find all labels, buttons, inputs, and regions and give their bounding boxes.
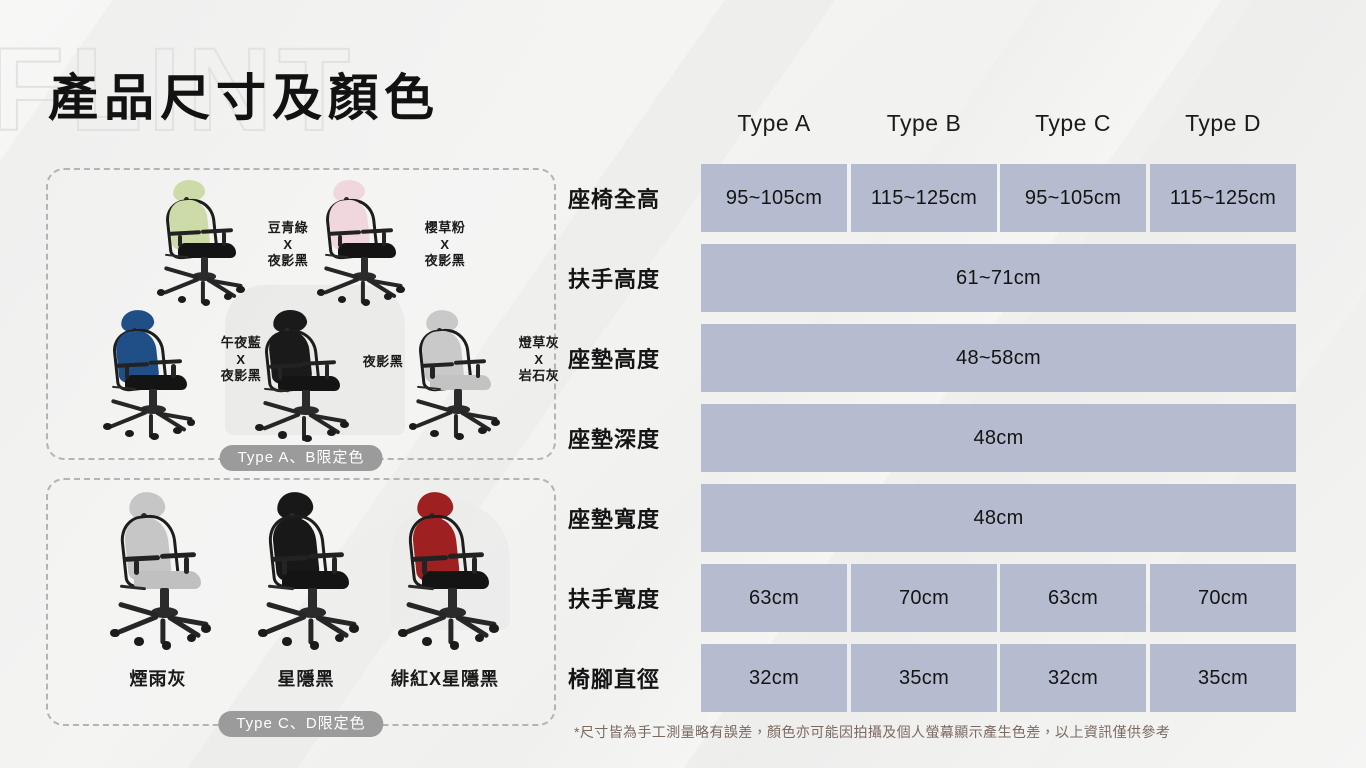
chair-castor-2 <box>125 430 134 437</box>
chair-armrest-post-right <box>382 232 386 246</box>
chair-castor-3 <box>455 433 464 440</box>
chair-castor-5 <box>187 419 196 426</box>
chair-armrest-post-left <box>422 560 427 575</box>
disclaimer-footnote: *尺寸皆為手工測量略有誤差，顏色亦可能因拍攝及個人螢幕顯示產生色差，以上資訊僅供… <box>574 722 1304 742</box>
chair-castor-5 <box>340 421 349 428</box>
chair-castor-4 <box>327 429 336 436</box>
chair-castor-3 <box>310 641 320 650</box>
chair-castor-4 <box>335 634 345 643</box>
spec-row: 座墊寬度48cm <box>568 478 1308 557</box>
panel-badge-ab: Type A、B限定色 <box>220 445 383 471</box>
spec-cell: 32cm <box>701 644 847 712</box>
spec-row: 座墊深度48cm <box>568 398 1308 477</box>
chair-castor-3 <box>150 433 159 440</box>
chair-castor-2 <box>178 296 186 303</box>
chair-castor-1 <box>398 629 408 638</box>
chair-castor-3 <box>450 641 460 650</box>
spec-row-cells: 61~71cm <box>701 244 1296 312</box>
spec-row-label: 扶手寬度 <box>568 558 694 637</box>
chair-armrest-post-right <box>325 364 329 378</box>
chair-base-leg-1 <box>110 410 148 428</box>
chair-castor-1 <box>255 424 264 431</box>
spec-row: 座墊高度48~58cm <box>568 318 1308 397</box>
spec-table: Type AType BType CType D 座椅全高95~105cm115… <box>568 110 1308 718</box>
spec-cell: 32cm <box>1000 644 1146 712</box>
chair-base-leg-1 <box>265 614 307 635</box>
chair-castor-2 <box>422 637 432 646</box>
color-panel-ab: 豆青綠 X 夜影黑櫻草粉 X 夜影黑午夜藍 X 夜影黑夜影黑燈草灰 X 岩石灰 … <box>46 168 556 460</box>
spec-row-cells: 48~58cm <box>701 324 1296 392</box>
chair-color-label: 緋紅X星隱黑 <box>370 668 520 691</box>
column-header-type-c: Type C <box>1000 110 1146 137</box>
chair-armrest-right <box>308 552 344 559</box>
chair-armrest-post-left <box>282 560 287 575</box>
chair-color-label: 櫻草粉 X 夜影黑 <box>400 220 490 270</box>
spec-cell: 35cm <box>1150 644 1296 712</box>
chair-castor-5 <box>396 286 404 293</box>
chair-armrest-post-right <box>222 232 226 246</box>
chair-castor-4 <box>384 293 392 300</box>
chair-castor-1 <box>258 629 268 638</box>
chair-armrest-right <box>201 228 233 234</box>
chair-illustration <box>386 492 506 652</box>
spec-cell-merged: 48~58cm <box>701 324 1296 392</box>
chair-castor-1 <box>409 423 418 430</box>
spec-cell: 70cm <box>851 564 997 632</box>
chair-castor-3 <box>303 435 312 442</box>
column-header-type-b: Type B <box>851 110 997 137</box>
chair-castor-5 <box>491 419 500 426</box>
spec-row-cells: 95~105cm115~125cm95~105cm115~125cm <box>701 164 1296 232</box>
chair-castor-2 <box>282 637 292 646</box>
spec-cell: 95~105cm <box>701 164 847 232</box>
chair-base-leg-1 <box>163 277 199 295</box>
chair-castor-2 <box>278 431 287 438</box>
spec-row-cells: 48cm <box>701 484 1296 552</box>
chair-armrest-right <box>361 228 393 234</box>
spec-row-label: 椅腳直徑 <box>568 638 694 717</box>
spec-cell: 70cm <box>1150 564 1296 632</box>
chair-illustration <box>92 310 202 442</box>
chair-castor-1 <box>317 289 325 296</box>
chair-castor-1 <box>103 423 112 430</box>
spec-cell: 63cm <box>1000 564 1146 632</box>
chair-armrest-post-left <box>278 367 282 380</box>
chair-castor-2 <box>338 296 346 303</box>
slide-canvas: FLINT 產品尺寸及顏色 豆青綠 X 夜影黑櫻草粉 X 夜影黑午夜藍 X 夜影… <box>0 0 1366 768</box>
chair-armrest-post-right <box>472 557 477 574</box>
column-header-type-d: Type D <box>1150 110 1296 137</box>
column-header-type-a: Type A <box>701 110 847 137</box>
spec-row-cells: 63cm70cm63cm70cm <box>701 564 1296 632</box>
chair-armrest-post-left <box>338 235 342 247</box>
spec-row: 扶手寬度63cm70cm63cm70cm <box>568 558 1308 637</box>
chair-armrest-post-left <box>125 366 129 378</box>
chair-armrest-post-right <box>476 364 480 378</box>
chair-base-leg-1 <box>262 412 301 431</box>
chair-castor-4 <box>478 427 487 434</box>
chair-armrest-right <box>302 360 336 366</box>
chair-base-leg-1 <box>405 614 447 635</box>
chair-armrest-right <box>448 552 484 559</box>
chair-illustration <box>306 180 411 308</box>
chair-castor-4 <box>475 634 485 643</box>
chair-armrest-post-right <box>184 557 189 574</box>
chair-castor-3 <box>162 641 172 650</box>
spec-cell: 115~125cm <box>851 164 997 232</box>
chair-armrest-post-left <box>178 235 182 247</box>
spec-cell: 95~105cm <box>1000 164 1146 232</box>
spec-row-cells: 32cm35cm32cm35cm <box>701 644 1296 712</box>
chair-armrest-right <box>160 552 196 559</box>
chair-base-leg-1 <box>415 410 453 428</box>
chair-castor-5 <box>201 624 211 633</box>
spec-cell: 63cm <box>701 564 847 632</box>
spec-row-label: 座椅全高 <box>568 158 694 237</box>
chair-seat <box>278 376 341 391</box>
chair-castor-5 <box>349 624 359 633</box>
chair-illustration <box>244 310 356 444</box>
chair-castor-1 <box>110 629 120 638</box>
chair-armrest-post-right <box>332 557 337 574</box>
spec-row: 椅腳直徑32cm35cm32cm35cm <box>568 638 1308 717</box>
chair-castor-3 <box>362 299 370 306</box>
color-panel-cd: 煙雨灰星隱黑緋紅X星隱黑 Type C、D限定色 <box>46 478 556 726</box>
chair-illustration <box>146 180 251 308</box>
spec-cell: 35cm <box>851 644 997 712</box>
spec-row-cells: 48cm <box>701 404 1296 472</box>
chair-armrest-post-right <box>171 364 175 378</box>
spec-row-label: 座墊深度 <box>568 398 694 477</box>
spec-row-label: 座墊高度 <box>568 318 694 397</box>
page-title: 產品尺寸及顏色 <box>48 58 440 130</box>
spec-row-label: 座墊寬度 <box>568 478 694 557</box>
chair-color-label: 煙雨灰 <box>96 668 220 691</box>
spec-cell-merged: 48cm <box>701 484 1296 552</box>
chair-castor-5 <box>236 286 244 293</box>
chair-illustration <box>398 310 506 442</box>
chair-castor-4 <box>173 427 182 434</box>
chair-castor-3 <box>202 299 210 306</box>
chair-castor-5 <box>489 624 499 633</box>
spec-cell: 115~125cm <box>1150 164 1296 232</box>
chair-castor-2 <box>430 430 439 437</box>
spec-table-header-row: Type AType BType CType D <box>568 110 1308 158</box>
spec-cell-merged: 61~71cm <box>701 244 1296 312</box>
chair-base-leg-1 <box>117 614 159 635</box>
chair-illustration <box>246 492 366 652</box>
spec-row: 扶手高度61~71cm <box>568 238 1308 317</box>
chair-castor-4 <box>224 293 232 300</box>
spec-table-body: 座椅全高95~105cm115~125cm95~105cm115~125cm扶手… <box>568 158 1308 717</box>
spec-row: 座椅全高95~105cm115~125cm95~105cm115~125cm <box>568 158 1308 237</box>
spec-cell-merged: 48cm <box>701 404 1296 472</box>
chair-base-leg-1 <box>323 277 359 295</box>
chair-illustration <box>98 492 218 652</box>
panel-badge-cd: Type C、D限定色 <box>218 711 383 737</box>
chair-castor-1 <box>157 289 165 296</box>
chair-color-label: 星隱黑 <box>244 668 368 691</box>
spec-row-label: 扶手高度 <box>568 238 694 317</box>
chair-armrest-post-left <box>430 366 434 378</box>
chair-armrest-post-left <box>134 560 139 575</box>
chair-castor-4 <box>187 634 197 643</box>
chair-castor-2 <box>134 637 144 646</box>
